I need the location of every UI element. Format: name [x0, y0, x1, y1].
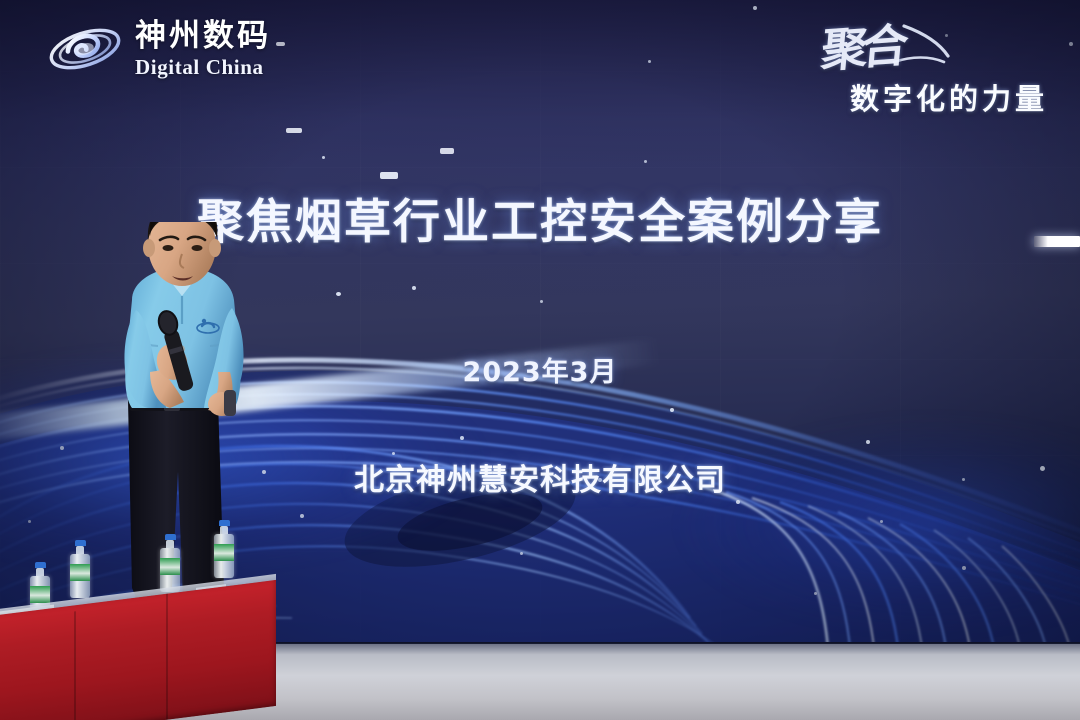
presentation-clicker-icon — [224, 390, 236, 416]
digital-china-branding: 神州数码 Digital China — [48, 18, 271, 80]
brand-name-cn: 神州数码 — [135, 21, 271, 52]
water-bottle — [214, 520, 234, 578]
event-branding: 聚合 数字化的力量 — [796, 16, 1056, 112]
calligraphy-block: 聚合 — [808, 16, 958, 78]
calligraphy-text: 聚合 — [819, 9, 906, 80]
event-tagline: 数字化的力量 — [850, 76, 1048, 118]
conference-photo: 聚焦烟草行业工控安全案例分享 2023年3月 北京神州慧安科技有限公司 神州数码… — [0, 0, 1080, 720]
water-bottle — [160, 534, 180, 592]
stage-edge-light — [1034, 236, 1080, 247]
brand-name-en: Digital China — [135, 57, 271, 78]
digital-china-wordmark: 神州数码 Digital China — [135, 21, 271, 78]
panel-table — [0, 556, 268, 720]
water-bottle — [70, 540, 90, 598]
digital-china-spiral-logo-icon — [48, 18, 122, 80]
